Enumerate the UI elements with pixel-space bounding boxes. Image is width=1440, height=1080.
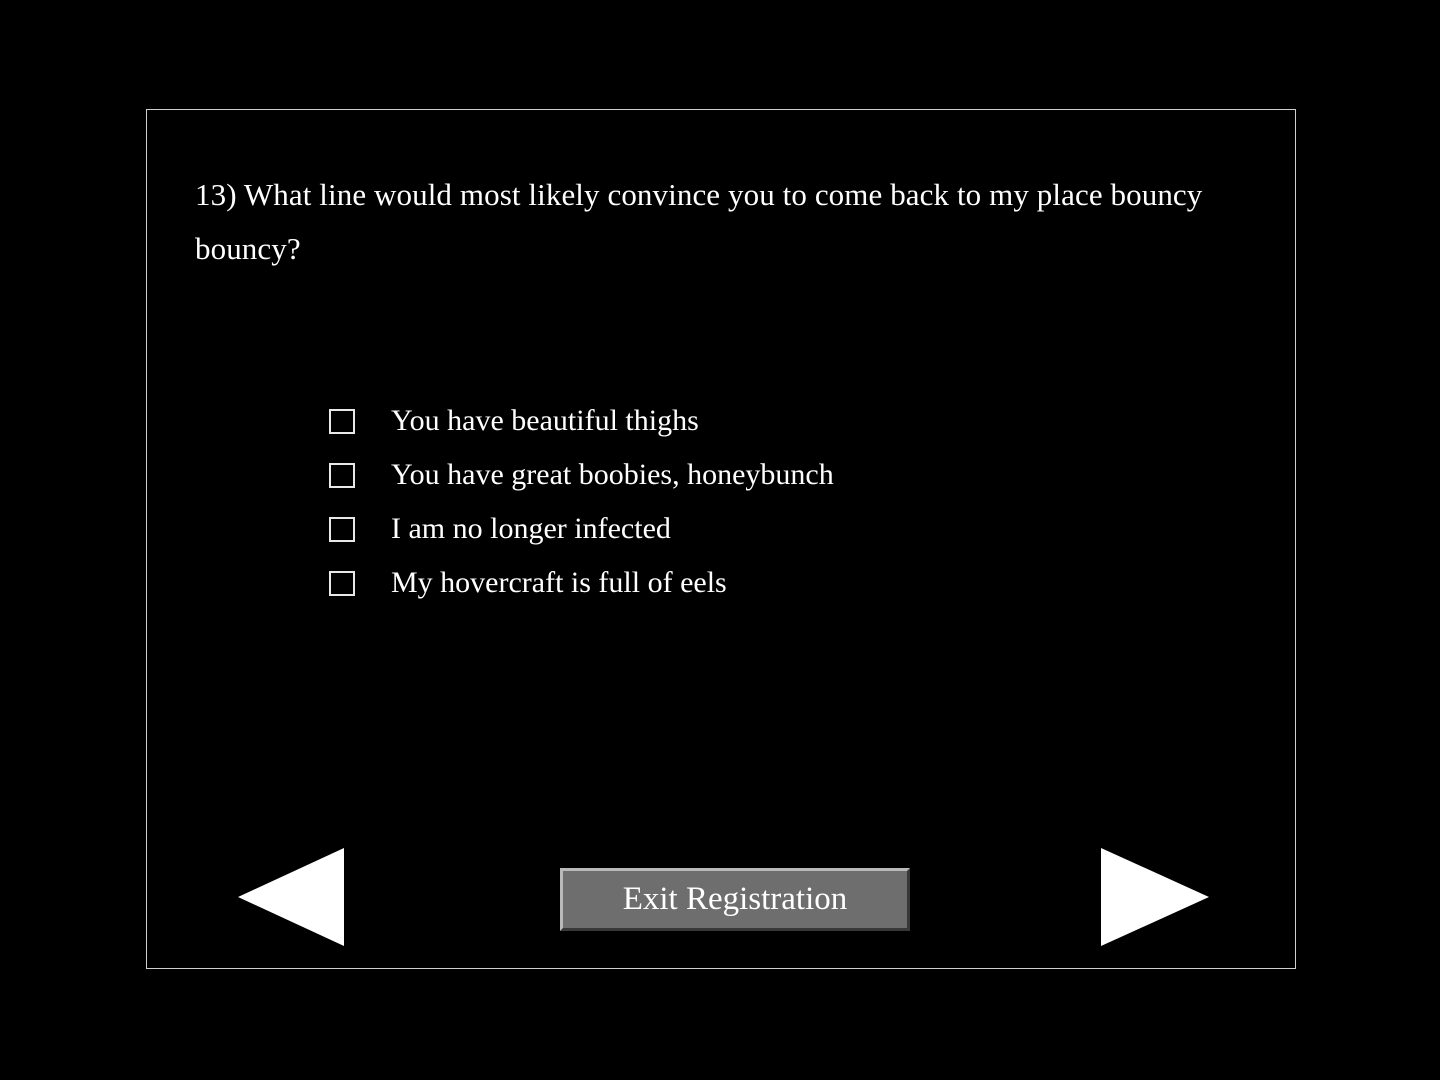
checkbox-icon[interactable]	[329, 517, 355, 542]
question-prompt: 13) What line would most likely convince…	[195, 168, 1205, 276]
survey-panel: 13) What line would most likely convince…	[146, 109, 1296, 969]
answer-option-label: You have beautiful thighs	[391, 406, 699, 436]
right-triangle-arrow-icon[interactable]	[1101, 848, 1209, 946]
checkbox-icon[interactable]	[329, 571, 355, 596]
checkbox-icon[interactable]	[329, 409, 355, 434]
exit-registration-button[interactable]: Exit Registration	[560, 868, 910, 931]
answer-option-row[interactable]: You have beautiful thighs	[329, 394, 1229, 448]
answer-option-row[interactable]: I am no longer infected	[329, 502, 1229, 556]
answer-option-row[interactable]: You have great boobies, honeybunch	[329, 448, 1229, 502]
answer-option-list: You have beautiful thighs You have great…	[329, 394, 1229, 610]
answer-option-label: My hovercraft is full of eels	[391, 568, 727, 598]
checkbox-icon[interactable]	[329, 463, 355, 488]
navigation-bar: Exit Registration	[147, 848, 1297, 958]
answer-option-row[interactable]: My hovercraft is full of eels	[329, 556, 1229, 610]
answer-option-label: You have great boobies, honeybunch	[391, 460, 834, 490]
game-screen: 13) What line would most likely convince…	[0, 0, 1440, 1080]
answer-option-label: I am no longer infected	[391, 514, 671, 544]
left-triangle-arrow-icon[interactable]	[238, 848, 344, 946]
